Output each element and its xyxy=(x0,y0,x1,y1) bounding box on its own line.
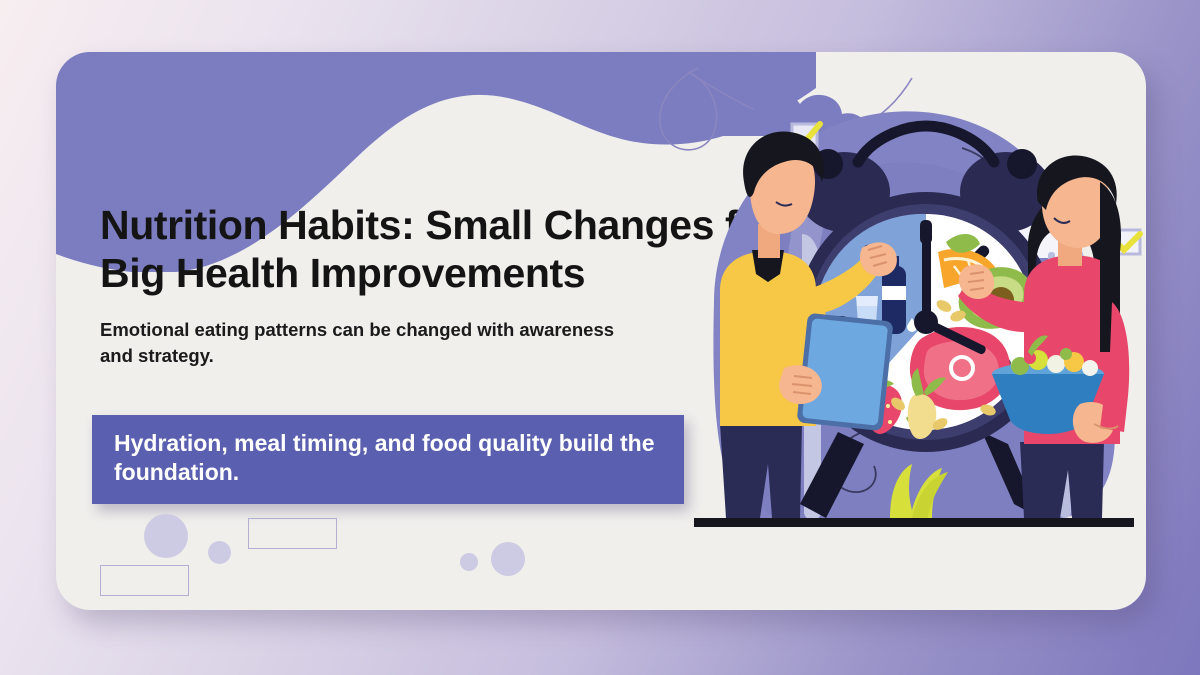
slide-card: Nutrition Habits: Small Changes for Big … xyxy=(56,52,1146,610)
highlight-banner: Hydration, meal timing, and food quality… xyxy=(92,415,684,504)
decorative-box xyxy=(248,518,337,549)
ground-line xyxy=(694,518,1134,527)
decorative-circle xyxy=(460,553,478,571)
decorative-circle xyxy=(208,541,231,564)
decorative-box xyxy=(100,565,189,596)
subtitle-text: Emotional eating patterns can be changed… xyxy=(100,317,640,368)
nutrition-timing-illustration xyxy=(676,52,1146,610)
banner-text: Hydration, meal timing, and food quality… xyxy=(114,429,664,488)
decorative-circle xyxy=(491,542,525,576)
decorative-circle xyxy=(144,514,188,558)
